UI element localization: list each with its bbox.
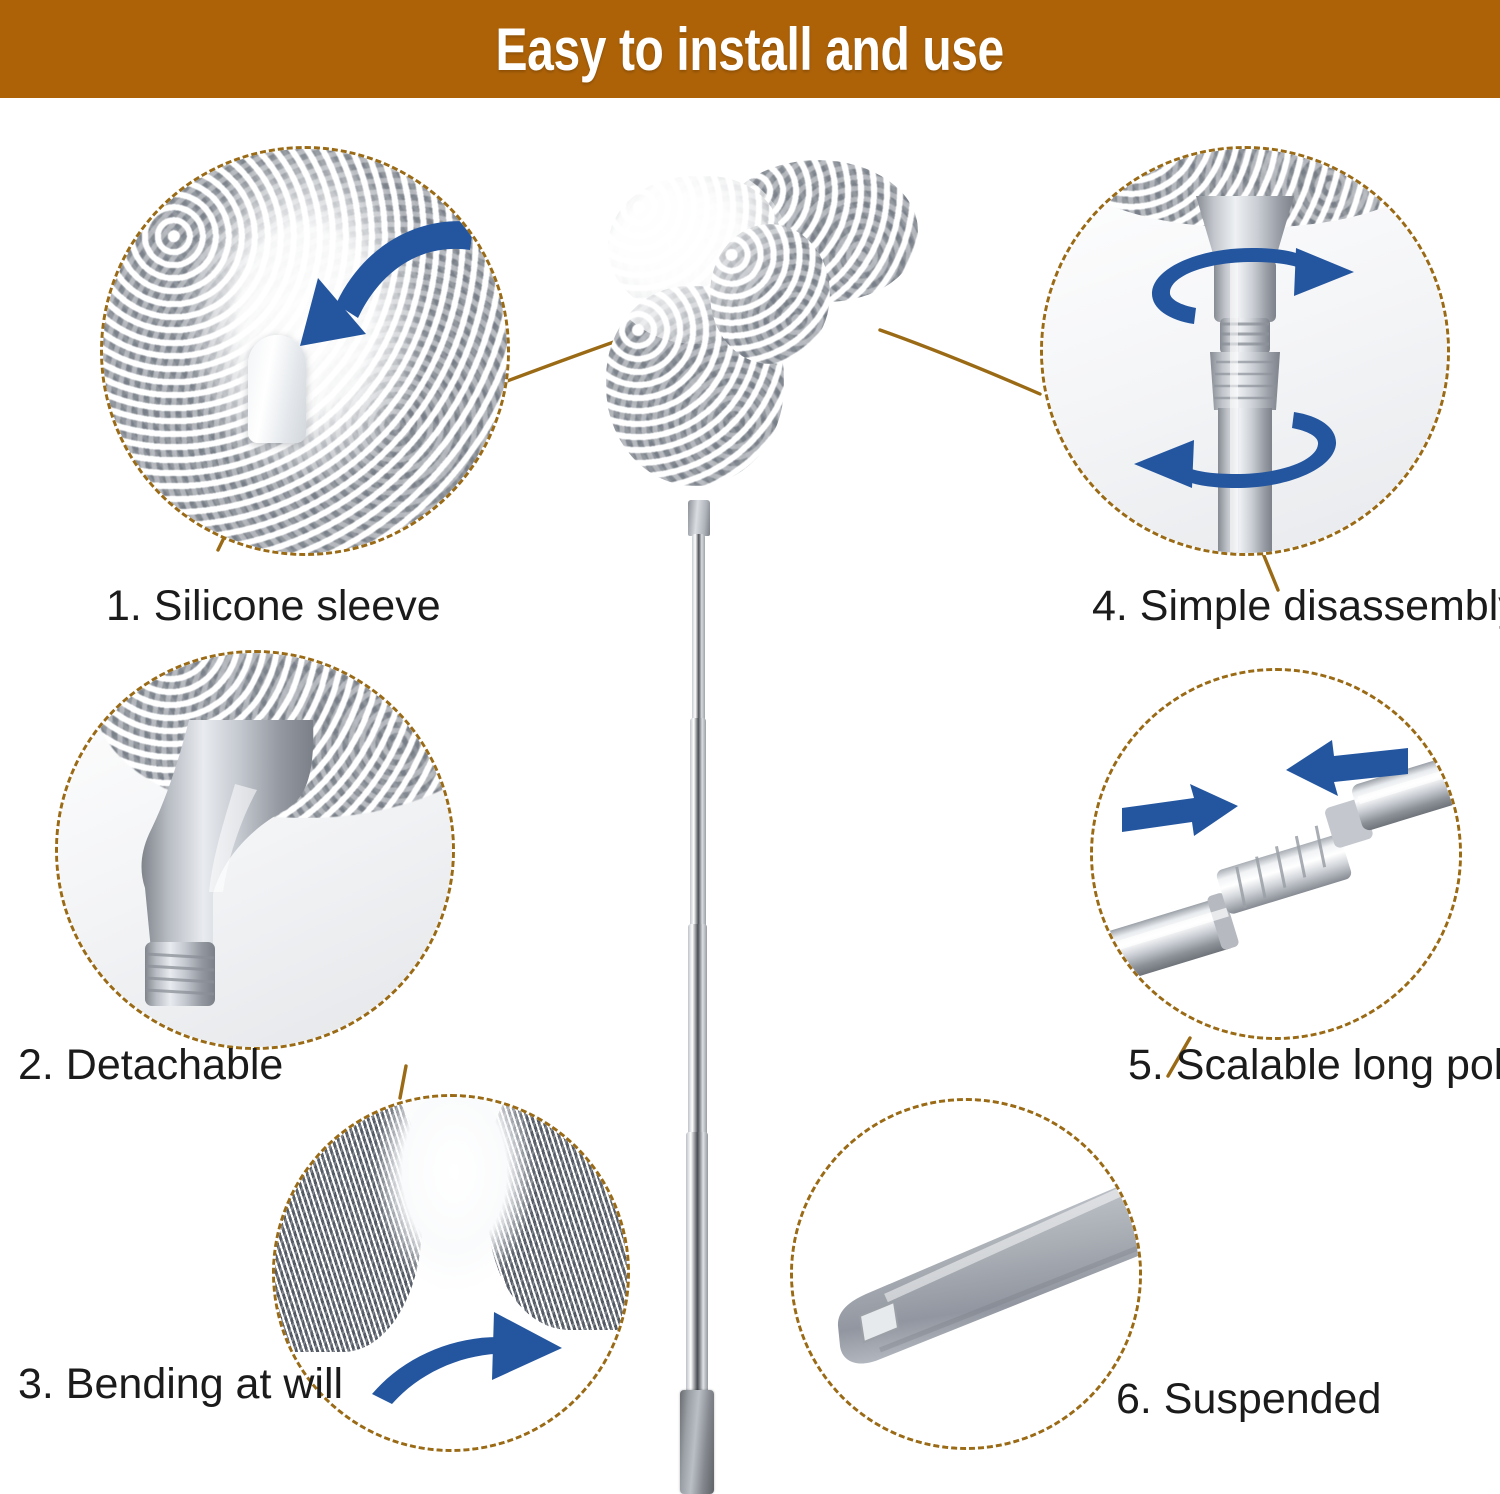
callout-caption-2: 2. Detachable bbox=[18, 1041, 283, 1090]
curved-arrow-down-left-icon bbox=[278, 206, 478, 376]
infographic-stage: 1. Silicone sleeve bbox=[0, 98, 1500, 1441]
pole-segment-2 bbox=[690, 718, 706, 930]
plastic-connector bbox=[117, 714, 347, 1014]
callout-caption-5: 5. Scalable long pole bbox=[1128, 1041, 1500, 1090]
pole-segment-1 bbox=[692, 534, 705, 724]
duster-head bbox=[590, 154, 920, 514]
product-illustration bbox=[560, 138, 960, 1438]
callout-caption-6: 6. Suspended bbox=[1116, 1375, 1381, 1424]
pole-segment-4 bbox=[686, 1132, 708, 1402]
callout-circle-5[interactable] bbox=[1090, 668, 1462, 1040]
head-highlight bbox=[600, 164, 790, 344]
pole-grip bbox=[680, 1390, 714, 1494]
header-banner: Easy to install and use bbox=[0, 0, 1500, 98]
callout-caption-3: 3. Bending at will bbox=[18, 1360, 343, 1409]
callout-caption-4: 4. Simple disassembly bbox=[1092, 582, 1500, 631]
callout-circle-4[interactable] bbox=[1040, 146, 1450, 556]
rotation-arrow-right-icon bbox=[1136, 242, 1366, 332]
page-title: Easy to install and use bbox=[496, 15, 1004, 84]
head-ferrule bbox=[688, 500, 710, 536]
retract-arrow-left-icon bbox=[1280, 730, 1410, 796]
curved-arrow-right-icon bbox=[366, 1306, 576, 1426]
callout-circle-1[interactable] bbox=[100, 146, 510, 556]
callout-circle-2[interactable] bbox=[55, 650, 455, 1050]
bend-highlight bbox=[365, 1094, 544, 1302]
pole-segment-3 bbox=[688, 924, 707, 1138]
callout-caption-1: 1. Silicone sleeve bbox=[106, 582, 441, 631]
rotation-arrow-left-icon bbox=[1122, 404, 1352, 494]
extend-arrow-right-icon bbox=[1120, 784, 1240, 848]
leader-tick-3 bbox=[400, 1066, 406, 1098]
